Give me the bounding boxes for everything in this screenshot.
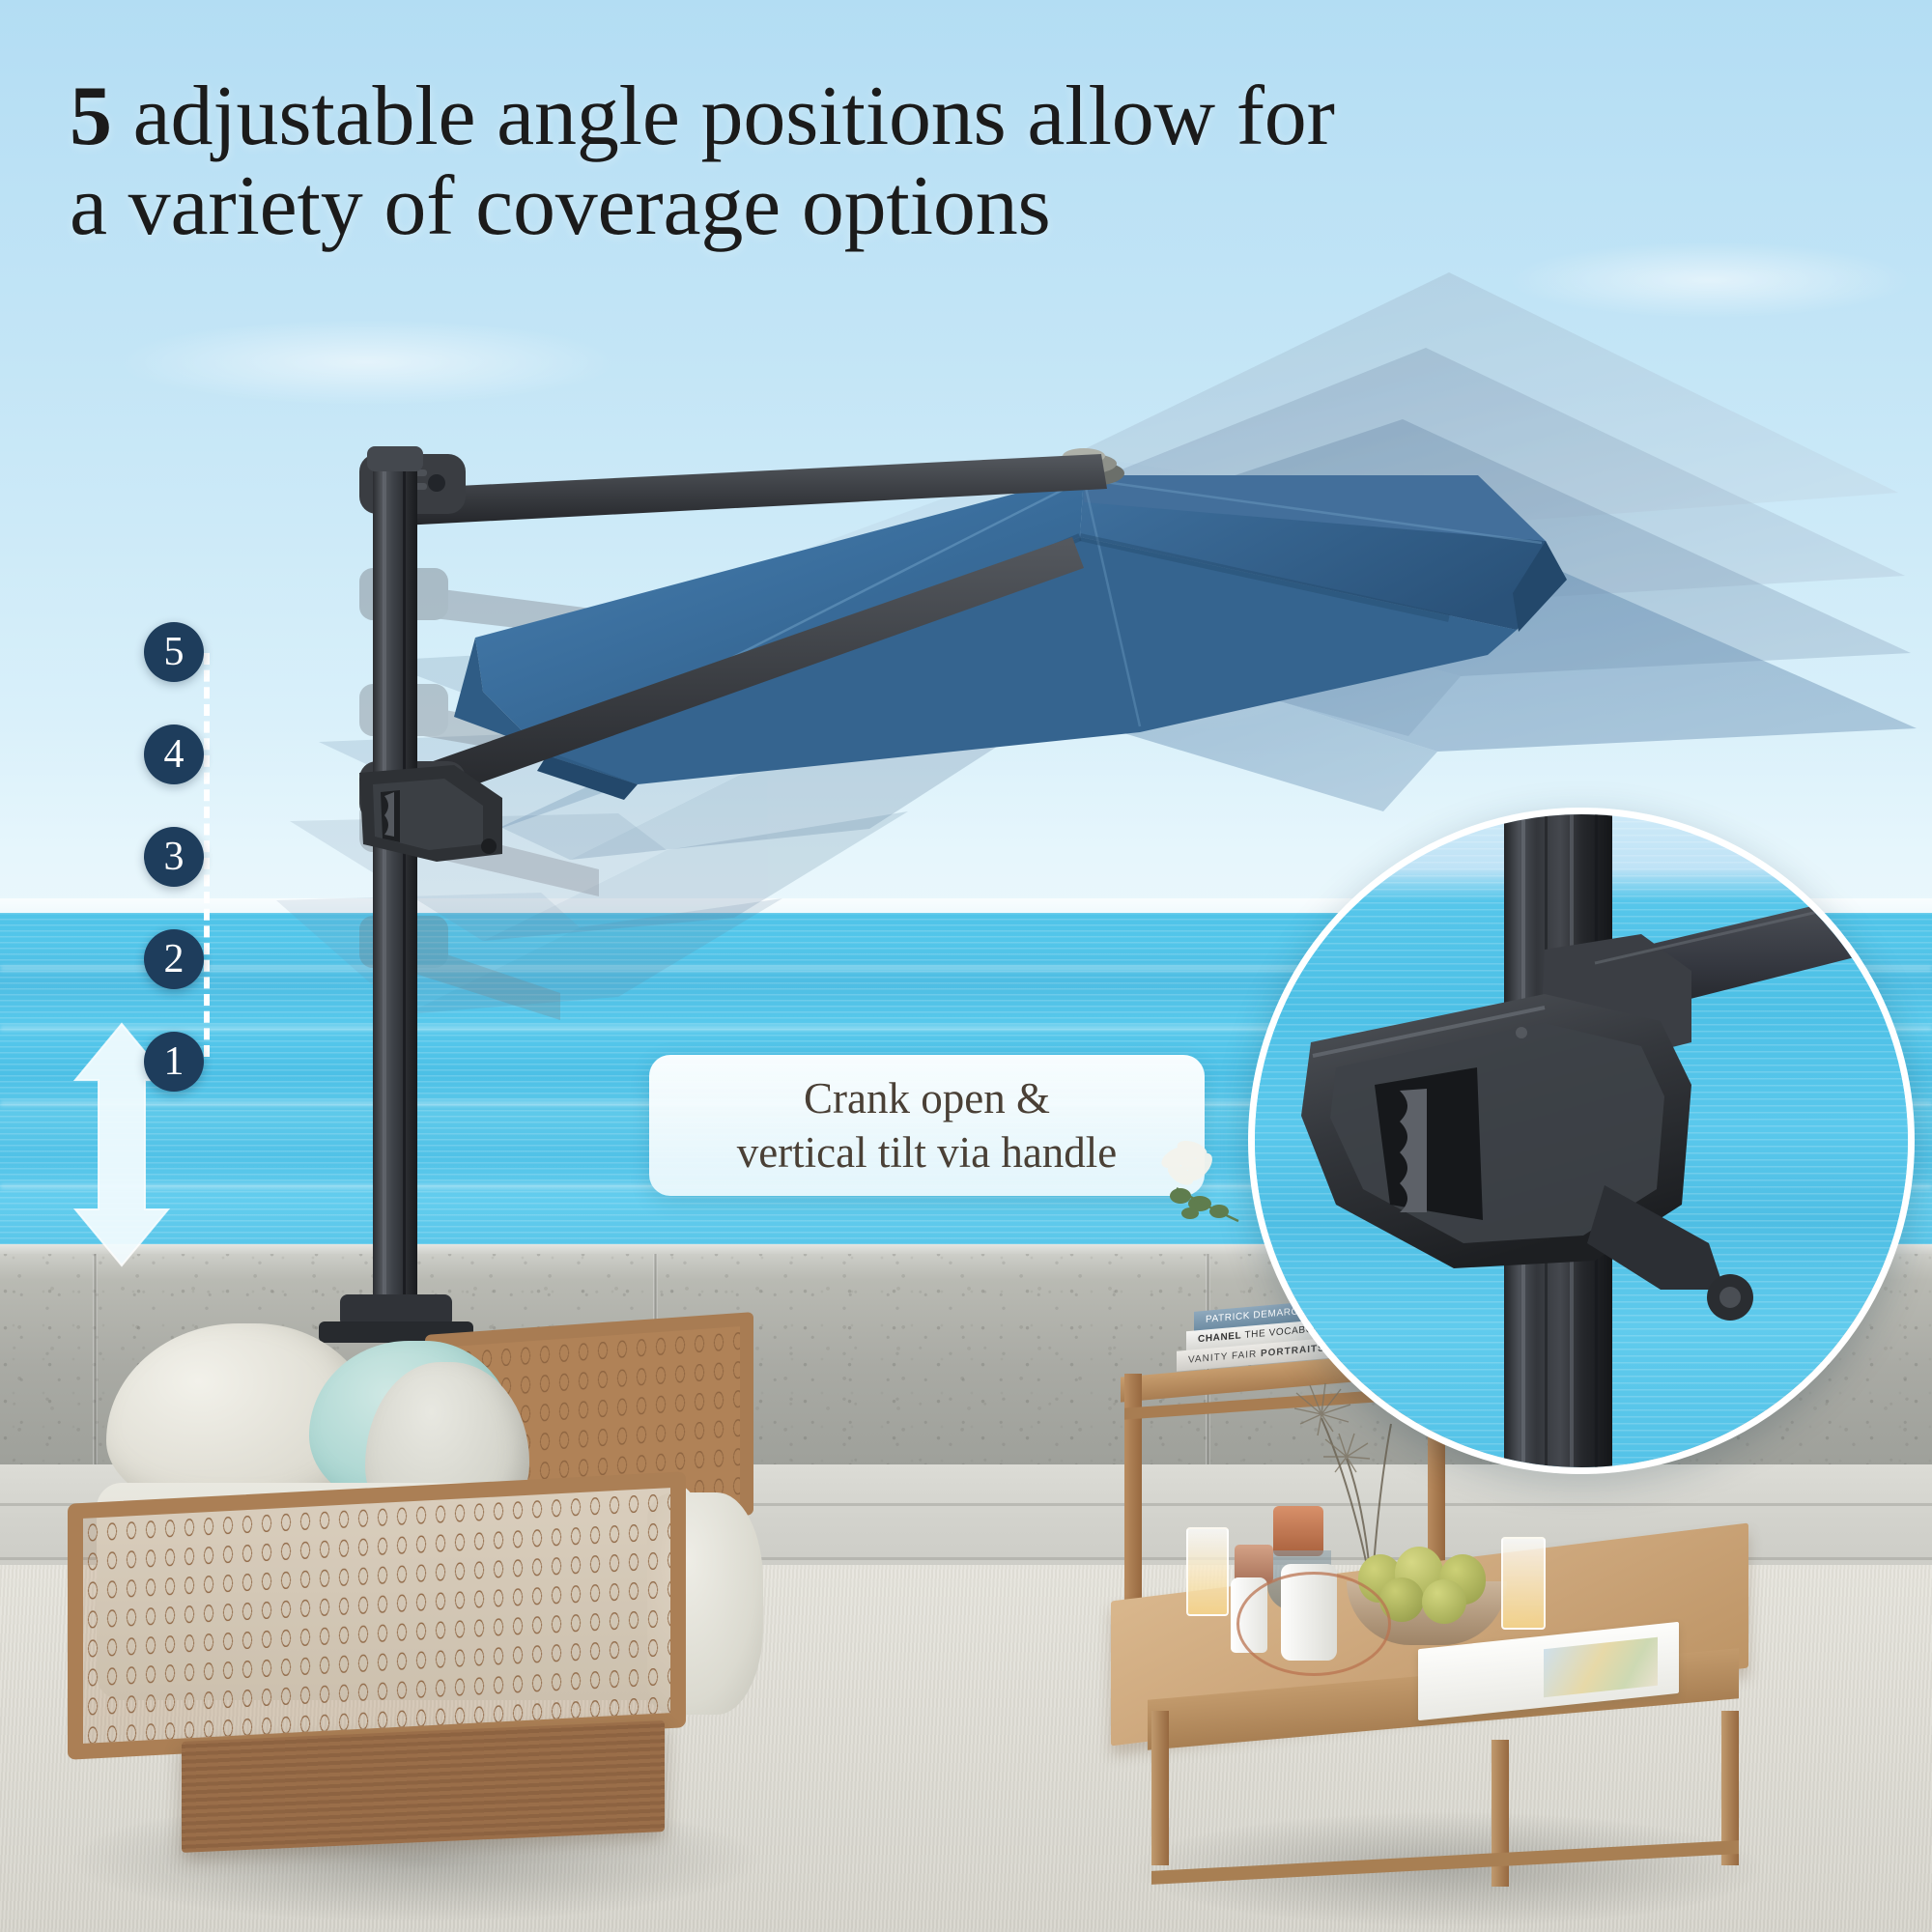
step-badge-label: 4	[164, 731, 185, 778]
step-connector-line	[204, 653, 210, 1057]
step-badge-2[interactable]: 2	[144, 929, 204, 989]
mesh-armchair	[58, 1294, 773, 1903]
headline-line2: a variety of coverage options	[70, 161, 1731, 251]
step-badge-3[interactable]: 3	[144, 827, 204, 887]
armchair-front-panel	[68, 1471, 686, 1760]
callout-line-1: Crank open &	[804, 1071, 1050, 1125]
step-badge-label: 5	[164, 629, 185, 675]
page-title: 5 adjustable angle positions allow for a…	[70, 71, 1731, 252]
lemonade-glass-right	[1501, 1537, 1546, 1630]
coffee-table	[1111, 1521, 1787, 1927]
copper-vase	[1273, 1506, 1323, 1556]
headline-lead-number: 5	[70, 70, 112, 163]
step-badge-label: 2	[164, 936, 185, 982]
step-badge-4[interactable]: 4	[144, 724, 204, 784]
step-badge-label: 3	[164, 834, 185, 880]
step-badge-5[interactable]: 5	[144, 622, 204, 682]
copper-hoop	[1236, 1572, 1391, 1676]
callout-crank-tilt: Crank open & vertical tilt via handle	[649, 1055, 1205, 1196]
callout-line-2: vertical tilt via handle	[737, 1125, 1118, 1179]
product-infographic: PATRICK DEMARCHELIER CHANEL THE VOCABULA…	[0, 0, 1932, 1932]
armchair-plinth	[182, 1720, 665, 1853]
inset-handle-illustration	[1255, 814, 1915, 1474]
pear	[1422, 1579, 1466, 1624]
white-flower-sprig	[1138, 1128, 1254, 1235]
step-badge-label: 1	[164, 1038, 185, 1085]
coffee-table-leg	[1151, 1711, 1169, 1865]
step-badge-1[interactable]: 1	[144, 1032, 204, 1092]
headline-line1-rest: adjustable angle positions allow for	[112, 70, 1335, 163]
coffee-table-stretcher	[1151, 1840, 1739, 1885]
lemonade-glass-left	[1186, 1527, 1229, 1616]
handle-closeup-inset	[1248, 808, 1915, 1474]
armchair-mesh-pattern	[83, 1488, 670, 1744]
